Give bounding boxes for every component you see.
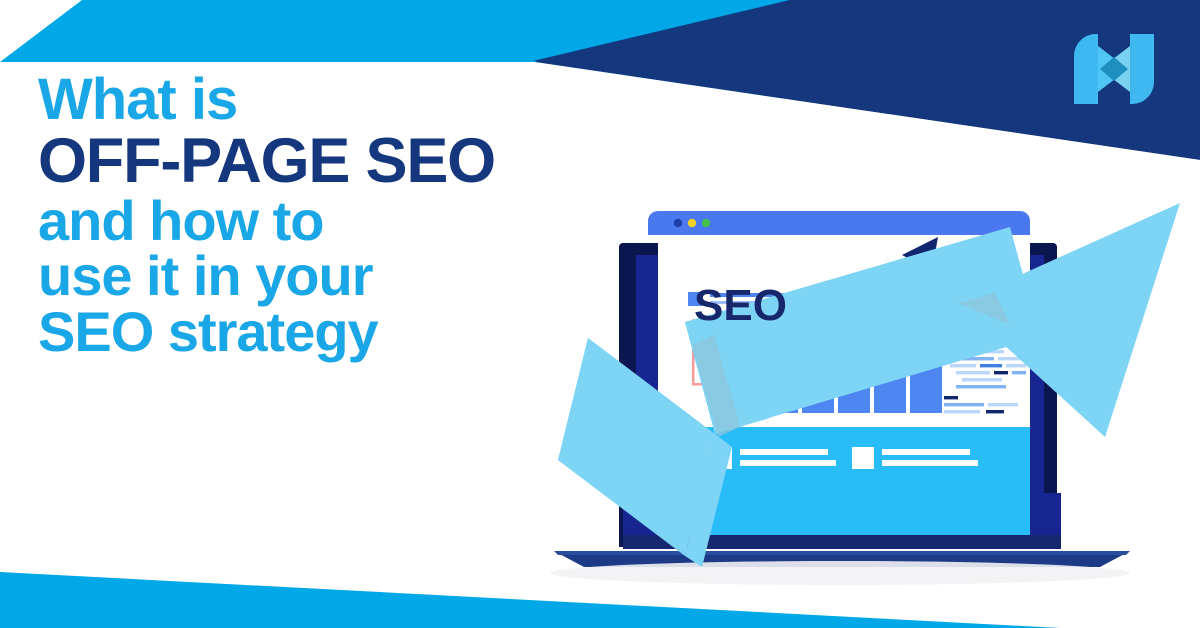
logo-right-stroke xyxy=(1130,34,1154,104)
widget-square-icon xyxy=(688,292,702,306)
banner-canvas: What is OFF-PAGE SEO and how to use it i… xyxy=(0,0,1200,628)
laptop-shadow xyxy=(550,561,1130,585)
footer-item-1-line-2 xyxy=(740,460,836,466)
headline-line-5: SEO strategy xyxy=(38,305,678,360)
footer-item-1-line-1 xyxy=(740,449,828,455)
headline-block: What is OFF-PAGE SEO and how to use it i… xyxy=(38,72,678,360)
headline-line-4: use it in your xyxy=(38,249,678,304)
laptop-base-highlight xyxy=(554,551,1130,555)
logo-left-stroke xyxy=(1074,34,1098,104)
headline-line-3: and how to xyxy=(38,194,678,249)
nightwatch-n-logo[interactable] xyxy=(1066,26,1162,112)
footer-item-2-square[interactable] xyxy=(852,447,874,469)
footer-item-2-line-1 xyxy=(882,449,970,455)
headline-line-1: What is xyxy=(38,72,678,129)
browser-dot-yellow[interactable] xyxy=(688,219,696,227)
browser-dot-green[interactable] xyxy=(702,219,710,227)
headline-line-2: OFF-PAGE SEO xyxy=(38,131,678,193)
footer-item-2-line-2 xyxy=(882,460,978,466)
